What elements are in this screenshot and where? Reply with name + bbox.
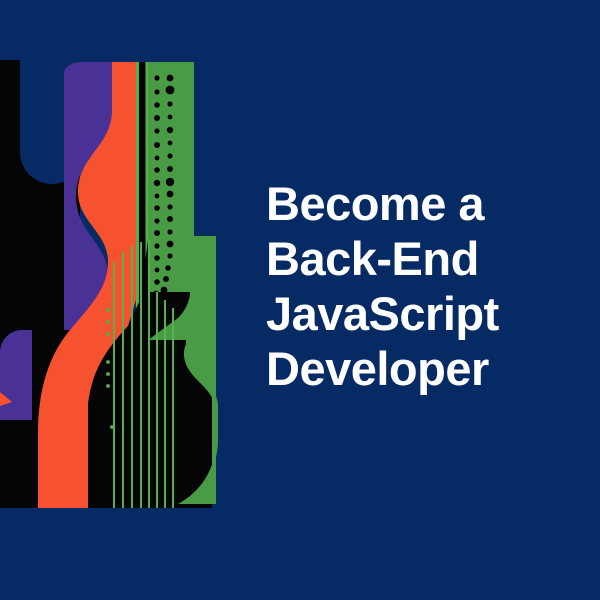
promo-banner: Become a Back-End JavaScript Developer — [0, 0, 600, 600]
page-title: Become a Back-End JavaScript Developer — [266, 176, 566, 396]
top-navy-band — [0, 0, 600, 60]
purple-lower-rectangle — [0, 330, 32, 420]
